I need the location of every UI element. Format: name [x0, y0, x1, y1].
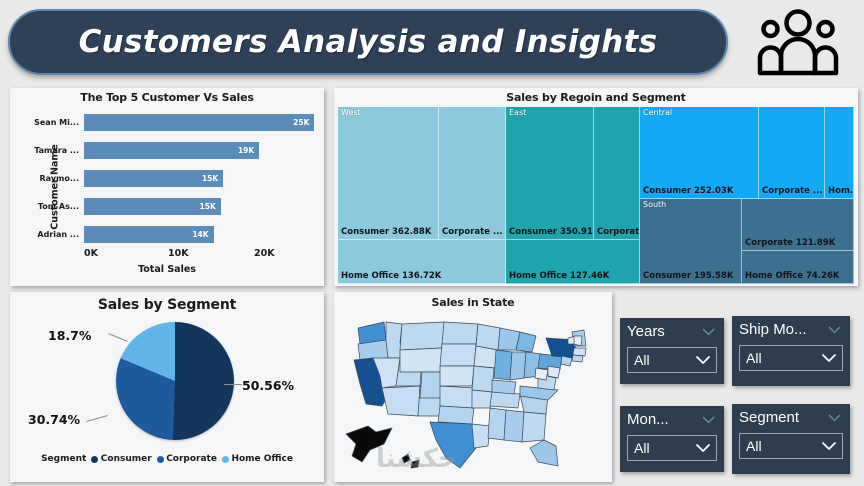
sales-by-region-segment-treemap-panel[interactable]: Sales by Regoin and Segment West Consume… [334, 88, 858, 286]
treemap-cell-label: Corporate 121.89K [745, 238, 835, 248]
state-massachusetts [573, 348, 586, 356]
state-michigan [516, 332, 536, 352]
treemap-cell-label: Consumer 350.91K [509, 227, 594, 237]
bar-category-label: Sean Mi... [32, 118, 84, 127]
state-connecticut [572, 355, 583, 362]
bar-fill[interactable]: 19K [84, 142, 259, 159]
chevron-down-icon[interactable] [821, 353, 837, 363]
x-tick-10: 10K [168, 248, 189, 259]
chevron-down-icon[interactable] [828, 326, 841, 334]
legend-label: Corporate [166, 454, 217, 464]
bar-value-label: 19K [238, 146, 254, 155]
bar-fill[interactable]: 15K [84, 198, 221, 215]
treemap-cell-south-corporate[interactable]: Corporate 121.89K [742, 199, 854, 251]
state-kentucky [492, 380, 516, 394]
slicer-dropdown-ship-mode[interactable]: All [739, 345, 843, 371]
chevron-down-icon[interactable] [828, 414, 841, 422]
treemap-cell-west-corporate[interactable]: Corporate ... [439, 107, 506, 240]
treemap-plot-area: West Consumer 362.88K Corporate ... Home… [338, 107, 854, 284]
state-west-virginia [535, 368, 548, 380]
treemap-cell-label: Corporat... [597, 227, 640, 237]
state-mississippi [488, 408, 506, 440]
treemap-cell-label: Corporate ... [762, 186, 823, 196]
bar-track: 14K [84, 220, 324, 248]
bar-category-label: Tom As... [32, 202, 84, 211]
treemap-cell-label: Corporate ... [442, 227, 503, 237]
state-minnesota [476, 324, 500, 350]
legend-item-consumer[interactable]: Consumer [91, 454, 151, 464]
treemap-group-label-central: Central [643, 108, 672, 117]
state-tennessee [490, 392, 520, 408]
legend-item-corporate[interactable]: Corporate [157, 454, 217, 464]
state-new-jersey [561, 356, 572, 366]
pie-slice-label-home-office: 18.7% [48, 328, 91, 343]
state-hawaii-b [411, 460, 419, 468]
treemap-title: Sales by Regoin and Segment [334, 88, 858, 104]
bar-value-label: 15K [202, 174, 218, 183]
pie-legend: Segment Consumer Corporate Home Office [10, 454, 324, 464]
treemap-cell-central-home-office[interactable]: Hom... [825, 107, 854, 199]
state-georgia [522, 412, 546, 442]
treemap-cell-central-consumer[interactable]: Central Consumer 252.03K [640, 107, 759, 199]
treemap-group-label-east: East [509, 108, 526, 117]
pie-slice-label-consumer: 50.56% [242, 378, 294, 393]
state-north-dakota [442, 322, 478, 344]
slicer-label: Segment [739, 409, 817, 426]
state-arkansas [472, 390, 492, 408]
us-map-svg[interactable] [340, 310, 606, 478]
bar-category-label: Tamara ... [32, 146, 84, 155]
slicer-segment[interactable]: Segment All [732, 404, 850, 474]
state-illinois [494, 350, 512, 380]
treemap-group-label-south: South [643, 200, 666, 209]
treemap-cell-west-consumer[interactable]: West Consumer 362.88K [338, 107, 439, 240]
state-indiana [510, 352, 526, 380]
pie-chart[interactable] [116, 322, 234, 440]
legend-swatch-icon [157, 456, 164, 463]
treemap-group-label-west: West [341, 108, 361, 117]
state-wyoming [400, 348, 442, 372]
slicer-value: All [746, 350, 762, 366]
bar-track: 25K [84, 108, 324, 136]
slicer-label: Mon... [627, 411, 705, 428]
chevron-down-icon[interactable] [702, 328, 715, 336]
slicer-label: Years [627, 323, 705, 340]
sales-by-segment-pie-panel[interactable]: Sales by Segment 18.7% 50.56% 30.74% Seg… [10, 292, 324, 482]
treemap-cell-label: Home Office 74.26K [745, 271, 839, 281]
bar-fill[interactable]: 25K [84, 114, 314, 131]
legend-label: Consumer [101, 454, 152, 464]
page-title-pill: Customers Analysis and Insights [8, 9, 728, 75]
bar-track: 19K [84, 136, 324, 164]
slicer-value: All [746, 438, 762, 454]
slicer-month[interactable]: Mon... All [620, 406, 724, 472]
slicer-years[interactable]: Years All [620, 318, 724, 384]
treemap-cell-label: Consumer 252.03K [643, 186, 733, 196]
treemap-cell-east-consumer[interactable]: East Consumer 350.91K [506, 107, 594, 240]
bar-fill[interactable]: 15K [84, 170, 223, 187]
people-group-icon [748, 8, 848, 76]
x-tick-20: 20K [254, 248, 275, 259]
us-choropleth-map[interactable]: حکشنا [340, 310, 606, 478]
bar-category-label: Raymo... [32, 174, 84, 183]
bar-row[interactable]: Tom As... 15K [32, 192, 324, 220]
state-idaho [386, 322, 402, 358]
slicer-value: All [634, 440, 650, 456]
slicer-dropdown-segment[interactable]: All [739, 433, 843, 459]
bar-value-label: 14K [192, 230, 208, 239]
bar-chart-x-axis: 0K 10K 20K [84, 248, 322, 262]
state-texas [430, 422, 476, 468]
state-iowa [474, 346, 498, 368]
pie-slice-label-corporate: 30.74% [28, 412, 80, 427]
treemap-group-east: East Consumer 350.91K Corporat... Home O… [506, 107, 640, 284]
state-maryland [548, 366, 560, 378]
state-hawaii-a [402, 454, 410, 463]
legend-swatch-icon [222, 456, 229, 463]
treemap-cell-east-corporate[interactable]: Corporat... [594, 107, 640, 240]
bar-track: 15K [84, 164, 324, 192]
pie-legend-title: Segment [41, 454, 86, 464]
slicer-header: Years [627, 323, 717, 344]
slicer-label: Ship Mo... [739, 321, 817, 338]
x-tick-0: 0K [84, 248, 98, 259]
map-title: Sales in State [334, 292, 612, 309]
pie-leader-line [224, 384, 242, 385]
treemap-group-central: Central Consumer 252.03K Corporate ... H… [640, 107, 854, 199]
slicer-header: Mon... [627, 411, 717, 432]
bar-fill[interactable]: 14K [84, 226, 214, 243]
treemap-cell-west-home-office[interactable]: Home Office 136.72K [338, 240, 506, 284]
bar-chart-title: The Top 5 Customer Vs Sales [10, 88, 324, 104]
state-south-dakota [440, 344, 476, 366]
pie-leader-line [86, 415, 107, 422]
pie-leader-line [109, 333, 128, 341]
treemap-group-south: South Consumer 195.58K Corporate 121.89K… [640, 199, 854, 284]
bar-row[interactable]: Tamara ... 19K [32, 136, 324, 164]
legend-swatch-icon [91, 456, 98, 463]
bar-value-label: 25K [293, 118, 309, 127]
bar-row[interactable]: Sean Mi... 25K [32, 108, 324, 136]
treemap-cell-label: Home Office 136.72K [341, 271, 441, 281]
bar-row[interactable]: Raymo... 15K [32, 164, 324, 192]
chevron-down-icon[interactable] [695, 355, 711, 365]
state-florida [530, 440, 558, 466]
slicer-value: All [634, 352, 650, 368]
chevron-down-icon[interactable] [821, 441, 837, 451]
pie-plot-area: 18.7% 50.56% 30.74% [10, 318, 324, 450]
treemap-cell-label: Consumer 195.58K [643, 271, 733, 281]
state-louisiana [472, 424, 490, 448]
bar-chart-plot-area: Sean Mi... 25K Tamara ... 19K Raymo... [32, 108, 324, 248]
treemap-group-west: West Consumer 362.88K Corporate ... Home… [338, 107, 506, 284]
treemap-cell-label: Hom... [828, 186, 854, 196]
state-arizona [382, 386, 420, 416]
slicer-dropdown-month[interactable]: All [627, 435, 717, 461]
treemap-cell-south-consumer[interactable]: South Consumer 195.58K [640, 199, 742, 284]
slicer-header: Segment [739, 409, 843, 430]
slicer-dropdown-years[interactable]: All [627, 347, 717, 373]
bar-chart-x-axis-label: Total Sales [10, 264, 324, 275]
dashboard-header: Customers Analysis and Insights [0, 0, 864, 84]
pie-chart-title: Sales by Segment [10, 292, 324, 313]
treemap-cell-south-home-office[interactable]: Home Office 74.26K [742, 251, 854, 284]
state-nebraska [440, 366, 474, 386]
state-kansas [440, 386, 474, 408]
slicer-header: Ship Mo... [739, 321, 843, 342]
state-montana [400, 322, 444, 350]
legend-item-home-office[interactable]: Home Office [222, 454, 293, 464]
state-oklahoma [438, 406, 474, 424]
state-missouri [472, 366, 494, 392]
treemap-cell-label: Consumer 362.88K [341, 227, 431, 237]
treemap-cell-central-corporate[interactable]: Corporate ... [759, 107, 825, 199]
state-alabama [504, 410, 524, 442]
bar-category-label: Adrian ... [32, 230, 84, 239]
dashboard-root: Customers Analysis and Insights The Top … [0, 0, 864, 486]
bar-track: 15K [84, 192, 324, 220]
bar-row[interactable]: Adrian ... 14K [32, 220, 324, 248]
legend-label: Home Office [231, 454, 292, 464]
page-title: Customers Analysis and Insights [79, 24, 658, 60]
treemap-cell-east-home-office[interactable]: Home Office 127.46K [506, 240, 640, 284]
bar-value-label: 15K [200, 202, 216, 211]
treemap-cell-label: Home Office 127.46K [509, 271, 609, 281]
state-alaska [346, 426, 392, 462]
top-customers-bar-chart-panel[interactable]: The Top 5 Customer Vs Sales Customer Nam… [10, 88, 324, 286]
state-new-hampshire [574, 336, 582, 346]
chevron-down-icon[interactable] [702, 416, 715, 424]
slicer-ship-mode[interactable]: Ship Mo... All [732, 316, 850, 386]
chevron-down-icon[interactable] [695, 443, 711, 453]
sales-in-state-map-panel[interactable]: Sales in State [334, 292, 612, 482]
